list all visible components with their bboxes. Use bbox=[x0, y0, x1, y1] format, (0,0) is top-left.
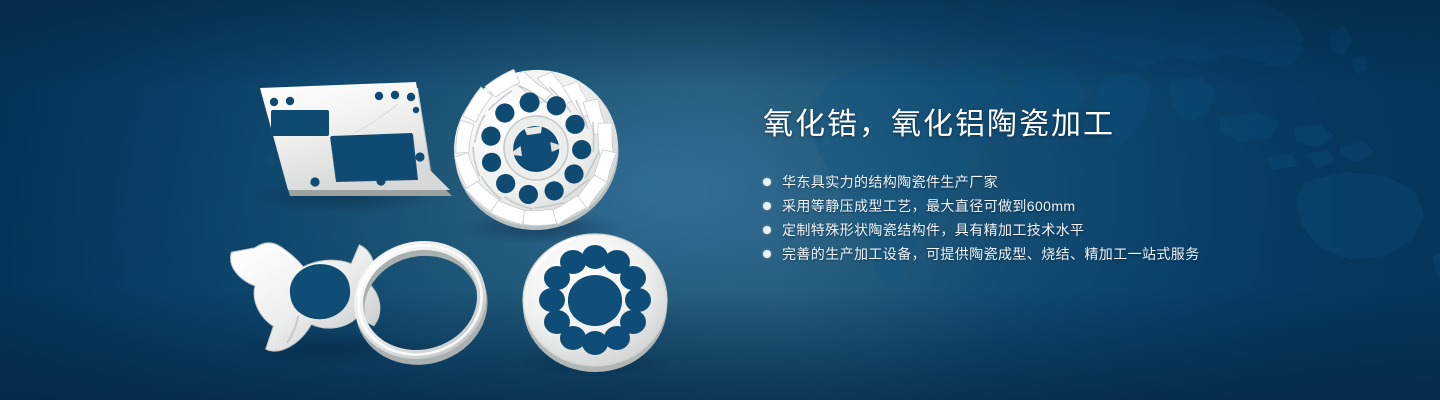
ceramic-products-image bbox=[0, 0, 720, 400]
bullet-dot-icon bbox=[763, 226, 771, 234]
page-title: 氧化锆，氧化铝陶瓷加工 bbox=[763, 104, 1403, 146]
banner-copy: 氧化锆，氧化铝陶瓷加工 华东具实力的结构陶瓷件生产厂家 采用等静压成型工艺，最大… bbox=[763, 104, 1403, 266]
list-item: 完善的生产加工设备，可提供陶瓷成型、烧结、精加工一站式服务 bbox=[763, 242, 1403, 266]
feature-text: 采用等静压成型工艺，最大直径可做到600mm bbox=[782, 194, 1075, 218]
hero-banner: 氧化锆，氧化铝陶瓷加工 华东具实力的结构陶瓷件生产厂家 采用等静压成型工艺，最大… bbox=[0, 0, 1440, 400]
feature-text: 华东具实力的结构陶瓷件生产厂家 bbox=[782, 170, 998, 194]
feature-text: 定制特殊形状陶瓷结构件，具有精加工技术水平 bbox=[782, 218, 1084, 242]
feature-text: 完善的生产加工设备，可提供陶瓷成型、烧结、精加工一站式服务 bbox=[782, 242, 1200, 266]
bullet-dot-icon bbox=[763, 202, 771, 210]
bullet-dot-icon bbox=[763, 250, 771, 258]
feature-list: 华东具实力的结构陶瓷件生产厂家 采用等静压成型工艺，最大直径可做到600mm 定… bbox=[763, 170, 1403, 266]
list-item: 采用等静压成型工艺，最大直径可做到600mm bbox=[763, 194, 1403, 218]
ceramic-impeller-part bbox=[444, 56, 629, 240]
ceramic-hole-disc-part bbox=[523, 234, 667, 372]
list-item: 定制特殊形状陶瓷结构件，具有精加工技术水平 bbox=[763, 218, 1403, 242]
ceramic-plate-part bbox=[260, 82, 452, 196]
list-item: 华东具实力的结构陶瓷件生产厂家 bbox=[763, 170, 1403, 194]
bullet-dot-icon bbox=[763, 178, 771, 186]
